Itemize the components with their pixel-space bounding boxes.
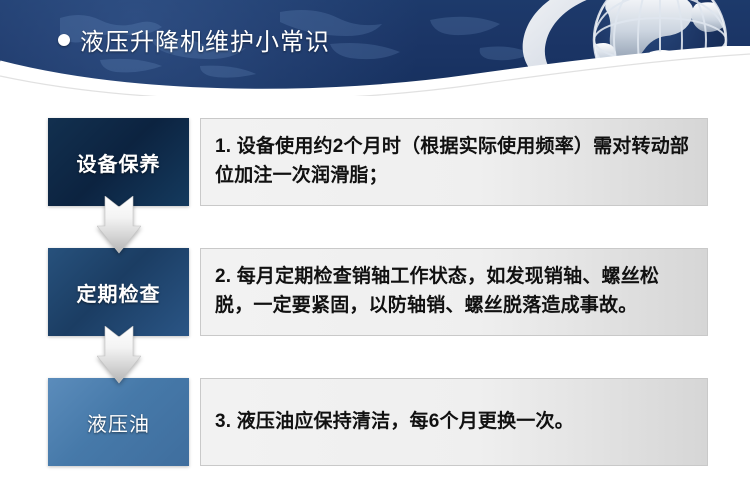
step-content-box-2: 2. 每月定期检查销轴工作状态，如发现销轴、螺丝松脱，一定要紧固，以防轴销、螺丝… bbox=[200, 248, 708, 336]
step-content-text-3: 3. 液压油应保持清洁，每6个月更换一次。 bbox=[215, 408, 574, 437]
step-label-box-1[interactable]: 设备保养 bbox=[48, 118, 189, 206]
step-label-text-2: 定期检查 bbox=[77, 278, 161, 307]
page-title-text: 液压升降机维护小常识 bbox=[80, 22, 330, 57]
step-content-text-1: 1. 设备使用约2个月时（根据实际使用频率）需对转动部位加注一次润滑脂； bbox=[215, 133, 693, 191]
step-label-box-2[interactable]: 定期检查 bbox=[48, 248, 189, 336]
slide-header: 液压升降机维护小常识 bbox=[0, 0, 750, 96]
down-arrow-icon-2 bbox=[97, 326, 141, 386]
down-arrow-icon-1 bbox=[97, 196, 141, 256]
step-row-2: 定期检查 2. 每月定期检查销轴工作状态，如发现销轴、螺丝松脱，一定要紧固，以防… bbox=[0, 248, 750, 336]
step-label-text-3: 液压油 bbox=[87, 408, 150, 437]
step-content-box-1: 1. 设备使用约2个月时（根据实际使用频率）需对转动部位加注一次润滑脂； bbox=[200, 118, 708, 206]
step-content-box-3: 3. 液压油应保持清洁，每6个月更换一次。 bbox=[200, 378, 708, 466]
step-row-3: 液压油 3. 液压油应保持清洁，每6个月更换一次。 bbox=[0, 378, 750, 466]
slide-canvas: 液压升降机维护小常识 设备保养 1. 设备使用约2个月时（根据实际使用频率）需对… bbox=[0, 0, 750, 495]
step-content-text-2: 2. 每月定期检查销轴工作状态，如发现销轴、螺丝松脱，一定要紧固，以防轴销、螺丝… bbox=[215, 263, 693, 321]
bullet-icon bbox=[58, 34, 70, 46]
step-row-1: 设备保养 1. 设备使用约2个月时（根据实际使用频率）需对转动部位加注一次润滑脂… bbox=[0, 118, 750, 206]
step-label-box-3[interactable]: 液压油 bbox=[48, 378, 189, 466]
step-label-text-1: 设备保养 bbox=[77, 148, 161, 177]
page-title: 液压升降机维护小常识 bbox=[58, 22, 330, 57]
